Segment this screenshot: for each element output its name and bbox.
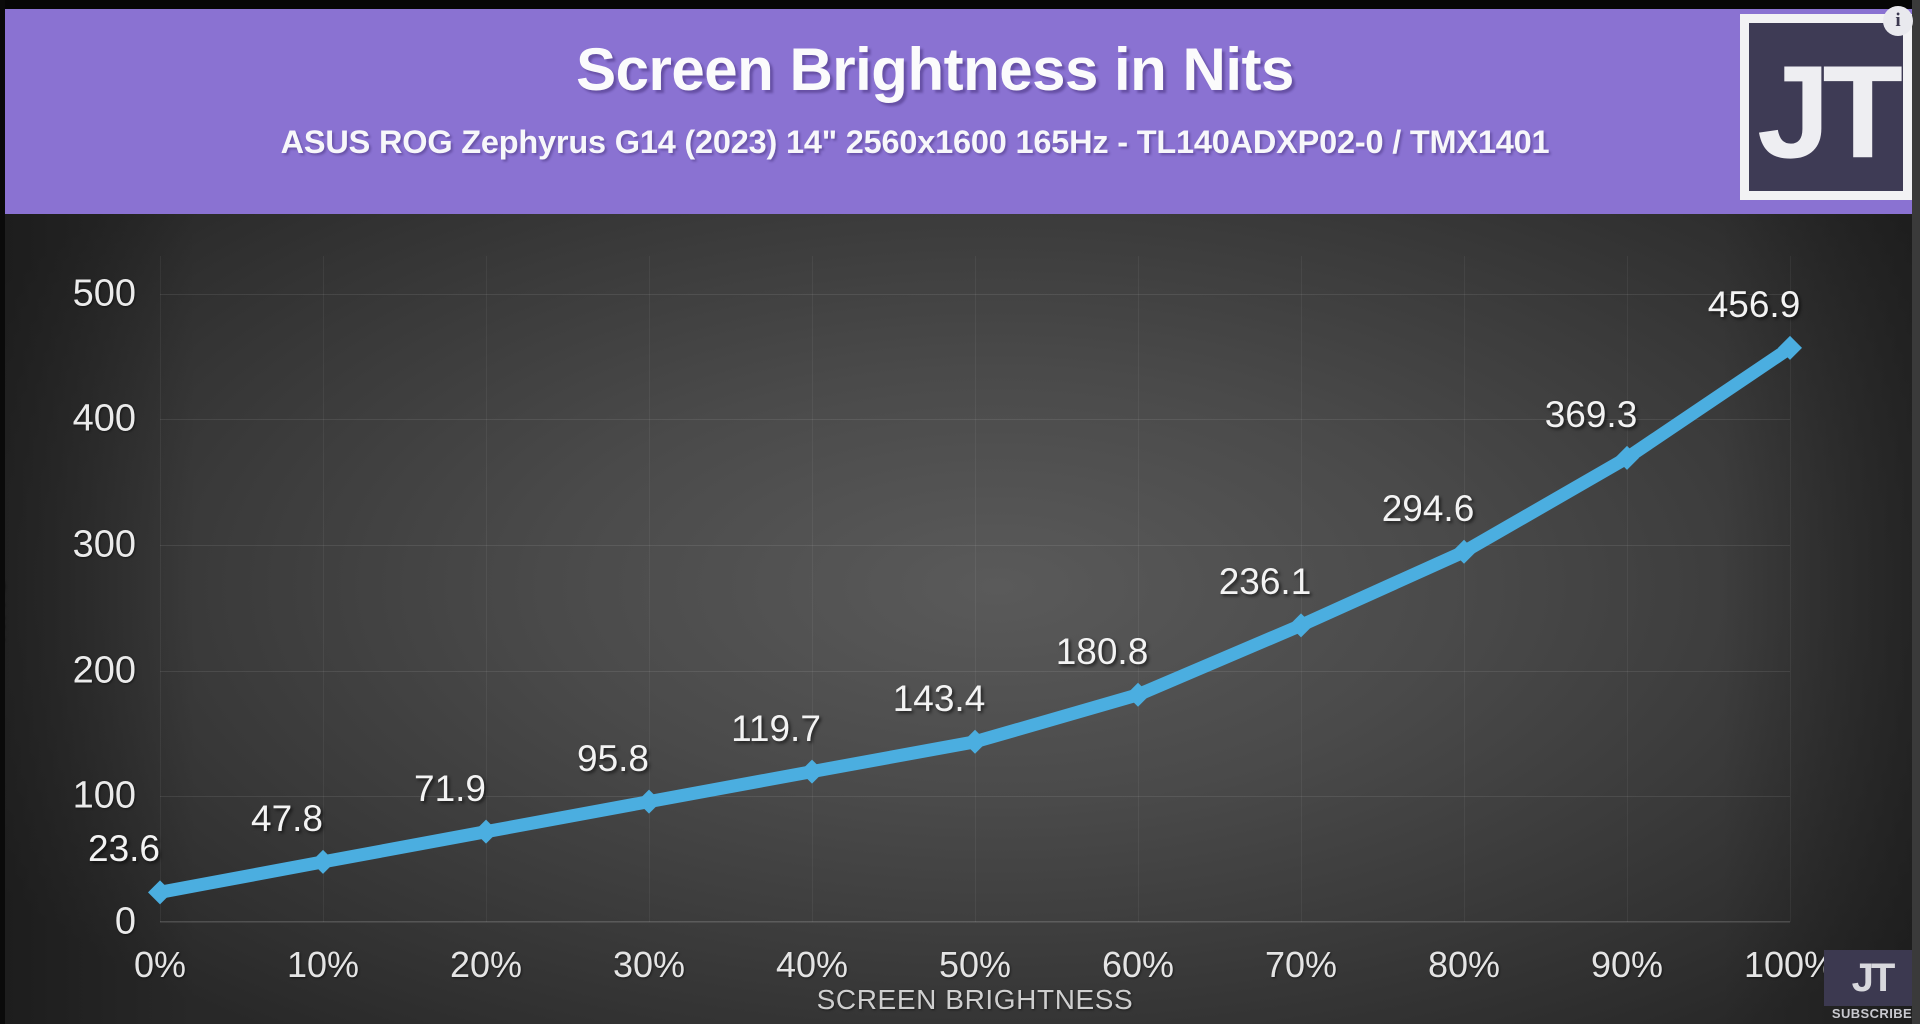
- data-point-marker: [637, 790, 661, 814]
- y-axis-tick-label: 100: [73, 775, 136, 818]
- subscribe-watermark[interactable]: JT SUBSCRIBE: [1824, 950, 1912, 1024]
- info-icon[interactable]: i: [1883, 6, 1913, 36]
- data-point-marker: [800, 760, 824, 784]
- screenshot-root: Screen Brightness in Nits ASUS ROG Zephy…: [0, 0, 1920, 1024]
- x-axis-tick-label: 10%: [287, 944, 359, 986]
- data-point-label: 180.8: [1056, 631, 1149, 673]
- x-axis-tick-label: 100%: [1744, 944, 1836, 986]
- x-axis-title: SCREEN BRIGHTNESS: [160, 984, 1790, 1016]
- x-axis-tick-label: 40%: [776, 944, 848, 986]
- data-point-label: 47.8: [251, 798, 323, 840]
- data-point-label: 119.7: [731, 708, 821, 750]
- data-point-label: 143.4: [893, 678, 986, 720]
- y-axis-tick-label: 0: [115, 901, 136, 944]
- x-axis-tick-label: 20%: [450, 944, 522, 986]
- watermark-logo-box: JT: [1824, 950, 1912, 1006]
- y-axis-tick-label: 200: [73, 649, 136, 692]
- chart-title: Screen Brightness in Nits: [5, 35, 1865, 104]
- data-point-marker: [474, 820, 498, 844]
- x-axis-tick-label: 60%: [1102, 944, 1174, 986]
- jt-channel-logo: JT: [1740, 14, 1912, 200]
- y-axis-tick-label: 300: [73, 524, 136, 567]
- x-axis-tick-label: 80%: [1428, 944, 1500, 986]
- data-point-label: 71.9: [414, 768, 486, 810]
- x-axis-tick-label: 50%: [939, 944, 1011, 986]
- chart-header-banner: Screen Brightness in Nits ASUS ROG Zephy…: [5, 9, 1912, 214]
- gridline-horizontal: [160, 922, 1790, 923]
- data-point-label: 369.3: [1545, 394, 1638, 436]
- x-axis-tick-label: 0%: [134, 944, 186, 986]
- watermark-jt-text: JT: [1852, 958, 1893, 998]
- data-point-label: 456.9: [1708, 284, 1801, 326]
- letterbox-top: [0, 0, 1920, 9]
- y-axis-tick-label: 500: [73, 272, 136, 315]
- chart-plot-area: NITS SCREEN BRIGHTNESS 0100200300400500 …: [5, 214, 1912, 1024]
- x-axis-tick-label: 30%: [613, 944, 685, 986]
- data-point-marker: [148, 880, 172, 904]
- brightness-line-series: [160, 256, 1790, 922]
- jt-logo-text: JT: [1757, 46, 1895, 178]
- data-point-label: 23.6: [88, 828, 160, 870]
- plot-canvas: 0100200300400500 0%10%20%30%40%50%60%70%…: [160, 256, 1790, 922]
- watermark-subscribe-label: SUBSCRIBE: [1824, 1006, 1912, 1021]
- data-point-label: 294.6: [1382, 488, 1475, 530]
- data-point-label: 95.8: [577, 738, 649, 780]
- x-axis-tick-label: 70%: [1265, 944, 1337, 986]
- data-point-label: 236.1: [1219, 561, 1312, 603]
- x-axis-tick-label: 90%: [1591, 944, 1663, 986]
- letterbox-right: [1912, 0, 1920, 1024]
- chart-subtitle: ASUS ROG Zephyrus G14 (2023) 14" 2560x16…: [5, 124, 1825, 161]
- data-point-marker: [311, 850, 335, 874]
- y-axis-tick-label: 400: [73, 398, 136, 441]
- y-axis-title: NITS: [5, 578, 11, 644]
